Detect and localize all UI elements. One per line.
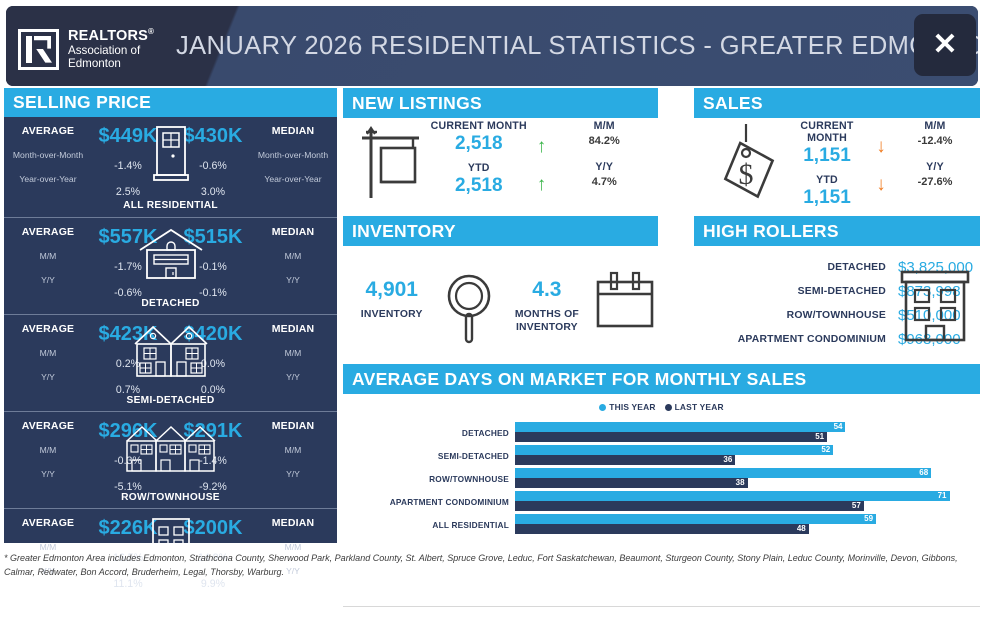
yy-value: -27.6% [894, 176, 976, 188]
selling-price-panel: SELLING PRICE AVERAGE Month-over-Month Y… [4, 88, 337, 543]
selling-price-body: AVERAGE Month-over-Month Year-over-Year … [4, 117, 337, 543]
chart-row: DETACHED5451 [343, 422, 974, 444]
sp-row1-label-right: M/M [249, 542, 337, 552]
chart-bar: 48 [515, 524, 809, 534]
chart-legend: THIS YEAR LAST YEAR [343, 394, 980, 412]
chart-bar-value: 57 [852, 501, 861, 511]
sp-row1-label: M/M [4, 251, 92, 261]
sp-row2-label: Y/Y [4, 372, 92, 382]
chart-bar-pair: 5236 [515, 445, 974, 467]
chart-bar-value: 54 [834, 422, 843, 432]
chart-bar-value: 51 [815, 432, 824, 442]
chart-bar-pair: 6838 [515, 468, 974, 490]
calendar-icon [592, 270, 658, 336]
current-month-label: CURRENT MONTH [429, 120, 529, 132]
arrow-up-icon: ↑ [537, 137, 547, 156]
logo-leg [36, 49, 52, 63]
page-header: REALTORS® Association of Edmonton JANUAR… [6, 6, 978, 86]
sp-left-label: AVERAGE [4, 125, 92, 137]
high-rollers-panel: HIGH ROLLERS DETACHED $3,825,000 SEMI-DE… [694, 216, 980, 350]
sp-category: ALL RESIDENTIAL [4, 200, 337, 211]
sp-category: DETACHED [4, 298, 337, 309]
inventory-panel: INVENTORY 4,901 INVENTORY 4.3 MONTHS OF … [343, 216, 658, 350]
chart-bar-value: 38 [736, 478, 745, 488]
townhouse-row-icon [123, 416, 219, 482]
mm-value: -12.4% [894, 135, 976, 147]
arrow-up-icon: ↑ [537, 175, 547, 194]
new-listings-body: CURRENT MONTH 2,518 YTD 2,518 ↑ ↑ M/M 84… [343, 118, 658, 208]
selling-price-block-all-residential: AVERAGE Month-over-Month Year-over-Year … [4, 117, 337, 217]
current-month-value: 1,151 [786, 145, 868, 167]
chart-bar-value: 71 [938, 491, 947, 501]
chart-bar: 52 [515, 445, 833, 455]
inventory-caption: INVENTORY [343, 308, 440, 321]
sales-heading: SALES [694, 88, 980, 118]
arrow-down-icon: ↓ [876, 137, 886, 156]
ytd-value: 2,518 [429, 175, 529, 197]
sp-row2-label-right: Y/Y [249, 275, 337, 285]
footer-divider [343, 606, 980, 607]
yy-value: 4.7% [555, 176, 655, 188]
chart-category-label: APARTMENT CONDOMINIUM [343, 497, 515, 507]
hr-label: DETACHED [694, 262, 886, 273]
sales-panel: SALES $ CURRENT MONTH 1,151 YTD 1,151 [694, 88, 980, 208]
sp-left-label: AVERAGE [4, 517, 92, 529]
sp-left-label: AVERAGE [4, 226, 92, 238]
realtors-logo: REALTORS® Association of Edmonton [18, 28, 154, 70]
sp-left-label: AVERAGE [4, 323, 92, 335]
months-value: 4.3 [502, 278, 592, 302]
mm-value: 84.2% [555, 135, 655, 147]
inventory-count: 4,901 INVENTORY [343, 270, 440, 321]
sp-right-label: MEDIAN [249, 517, 337, 529]
sp-row2-label: Y/Y [4, 275, 92, 285]
page-title: JANUARY 2026 RESIDENTIAL STATISTICS - GR… [176, 6, 968, 86]
sp-row1-label: M/M [4, 445, 92, 455]
detached-house-icon [123, 222, 219, 288]
high-rollers-body: DETACHED $3,825,000 SEMI-DETACHED $873,9… [694, 246, 980, 350]
chart-row: ALL RESIDENTIAL5948 [343, 514, 974, 536]
high-rollers-heading: HIGH ROLLERS [694, 216, 980, 246]
chart-category-label: ROW/TOWNHOUSE [343, 474, 515, 484]
logo-line1: REALTORS [68, 28, 148, 44]
svg-text:$: $ [739, 158, 754, 191]
legend-swatch-icon [599, 404, 606, 411]
semi-detached-house-icon [123, 319, 219, 385]
sp-left-label: AVERAGE [4, 420, 92, 432]
footnote: * Greater Edmonton Area includes Edmonto… [4, 552, 976, 580]
chart-bar-value: 68 [919, 468, 928, 478]
close-button[interactable]: ✕ [914, 14, 976, 76]
mm-label: M/M [894, 120, 976, 132]
chart-row: ROW/TOWNHOUSE6838 [343, 468, 974, 490]
sales-body: $ CURRENT MONTH 1,151 YTD 1,151 ↓ ↓ M/M … [694, 118, 980, 208]
sp-row2-label: Y/Y [4, 469, 92, 479]
sp-row1-label: Month-over-Month [4, 150, 92, 160]
sp-row2-label: Year-over-Year [4, 174, 92, 184]
selling-price-heading: SELLING PRICE [4, 88, 337, 117]
inventory-value: 4,901 [343, 278, 440, 302]
sp-category: SEMI-DETACHED [4, 395, 337, 406]
hr-label: APARTMENT CONDOMINIUM [694, 334, 886, 345]
legend-item-last-year: LAST YEAR [665, 402, 724, 412]
new-listings-values: CURRENT MONTH 2,518 YTD 2,518 ↑ ↑ M/M 84… [429, 120, 654, 208]
chart-bar-pair: 7157 [515, 491, 974, 513]
legend-label: LAST YEAR [675, 402, 724, 412]
chart-bar: 71 [515, 491, 950, 501]
sp-row1-label-right: M/M [249, 348, 337, 358]
chart-bar-value: 36 [723, 455, 732, 465]
logo-line3: Edmonton [68, 57, 154, 70]
sp-right-label: MEDIAN [249, 125, 337, 137]
selling-price-block-row-townhouse: AVERAGE M/M Y/Y $296K -0.3% -5.1% $291K … [4, 411, 337, 508]
sp-row1-label: M/M [4, 542, 92, 552]
sp-row1-label-right: Month-over-Month [249, 150, 337, 160]
chart-row: APARTMENT CONDOMINIUM7157 [343, 491, 974, 513]
sales-arrows: ↓ ↓ [868, 120, 894, 209]
arrow-down-icon: ↓ [876, 175, 886, 194]
yy-label: Y/Y [555, 161, 655, 173]
logo-text: REALTORS® Association of Edmonton [68, 28, 154, 70]
legend-label: THIS YEAR [609, 402, 655, 412]
months-caption-line1: MONTHS OF [502, 308, 592, 321]
chart-category-label: ALL RESIDENTIAL [343, 520, 515, 530]
hr-label: ROW/TOWNHOUSE [694, 310, 886, 321]
legend-item-this-year: THIS YEAR [599, 402, 655, 412]
magnifying-glass-icon [440, 270, 501, 346]
new-listings-arrows: ↑ ↑ [529, 120, 555, 208]
chart-bar: 51 [515, 432, 827, 442]
chart-bar-pair: 5948 [515, 514, 974, 536]
chart-bar: 54 [515, 422, 845, 432]
months-of-inventory: 4.3 MONTHS OF INVENTORY [502, 270, 592, 334]
selling-price-block-detached: AVERAGE M/M Y/Y $557K -1.7% -0.6% $515K … [4, 217, 337, 314]
current-month-label: CURRENT MONTH [786, 120, 868, 144]
chart-bar: 68 [515, 468, 931, 478]
close-icon: ✕ [932, 30, 957, 60]
chart-bar-value: 48 [797, 524, 806, 534]
inventory-body: 4,901 INVENTORY 4.3 MONTHS OF INVENTORY [343, 246, 658, 350]
chart-bar: 57 [515, 501, 864, 511]
days-on-market-chart: THIS YEAR LAST YEAR DETACHED5451SEMI-DET… [343, 394, 980, 542]
sp-right-label: MEDIAN [249, 420, 337, 432]
sp-category: ROW/TOWNHOUSE [4, 492, 337, 503]
infographic-page: REALTORS® Association of Edmonton JANUAR… [0, 0, 984, 628]
logo-registered-mark: ® [148, 27, 154, 36]
chart-bar-value: 52 [821, 445, 830, 455]
legend-swatch-icon [665, 404, 672, 411]
door-icon [123, 121, 219, 187]
for-sale-sign-icon [353, 122, 431, 202]
realtors-logo-mark [18, 29, 59, 70]
sp-row2-avg: 2.5% [92, 186, 164, 198]
sp-right-label: MEDIAN [249, 226, 337, 238]
price-tag-icon: $ [712, 122, 784, 204]
apartment-building-icon [898, 268, 972, 344]
chart-bar: 36 [515, 455, 735, 465]
mm-label: M/M [555, 120, 655, 132]
yy-label: Y/Y [894, 161, 976, 173]
sp-row2-label-right: Year-over-Year [249, 174, 337, 184]
sp-row1-label: M/M [4, 348, 92, 358]
page-title-text: JANUARY 2026 RESIDENTIAL STATISTICS - GR… [176, 32, 978, 61]
inventory-heading: INVENTORY [343, 216, 658, 246]
sp-row2-label-right: Y/Y [249, 372, 337, 382]
sales-values: CURRENT MONTH 1,151 YTD 1,151 ↓ ↓ M/M -1… [786, 120, 976, 208]
chart-category-label: SEMI-DETACHED [343, 451, 515, 461]
months-caption-line2: INVENTORY [502, 321, 592, 334]
logo-line2: Association of [68, 44, 154, 57]
chart-row: SEMI-DETACHED5236 [343, 445, 974, 467]
new-listings-heading: NEW LISTINGS [343, 88, 658, 118]
new-listings-panel: NEW LISTINGS CURRENT MONTH 2,518 YTD [343, 88, 658, 208]
ytd-value: 1,151 [786, 187, 868, 209]
days-on-market-panel: AVERAGE DAYS ON MARKET FOR MONTHLY SALES… [343, 364, 980, 542]
chart-category-label: DETACHED [343, 428, 515, 438]
ytd-label: YTD [429, 162, 529, 174]
chart-bar: 38 [515, 478, 748, 488]
current-month-value: 2,518 [429, 133, 529, 155]
days-on-market-heading: AVERAGE DAYS ON MARKET FOR MONTHLY SALES [343, 364, 980, 394]
ytd-label: YTD [786, 174, 868, 186]
chart-bar-value: 59 [864, 514, 873, 524]
selling-price-block-semi-detached: AVERAGE M/M Y/Y $423K 0.2% 0.7% $420K 0.… [4, 314, 337, 411]
sp-row2-med: 3.0% [177, 186, 249, 198]
chart-bar-pair: 5451 [515, 422, 974, 444]
sp-right-label: MEDIAN [249, 323, 337, 335]
sp-row2-label-right: Y/Y [249, 469, 337, 479]
chart-bar-rows: DETACHED5451SEMI-DETACHED5236ROW/TOWNHOU… [343, 422, 974, 537]
chart-bar: 59 [515, 514, 876, 524]
sp-row1-label-right: M/M [249, 251, 337, 261]
hr-label: SEMI-DETACHED [694, 286, 886, 297]
sp-row1-label-right: M/M [249, 445, 337, 455]
sp-category: APARTMENT CONDOMINIUM [4, 589, 337, 600]
